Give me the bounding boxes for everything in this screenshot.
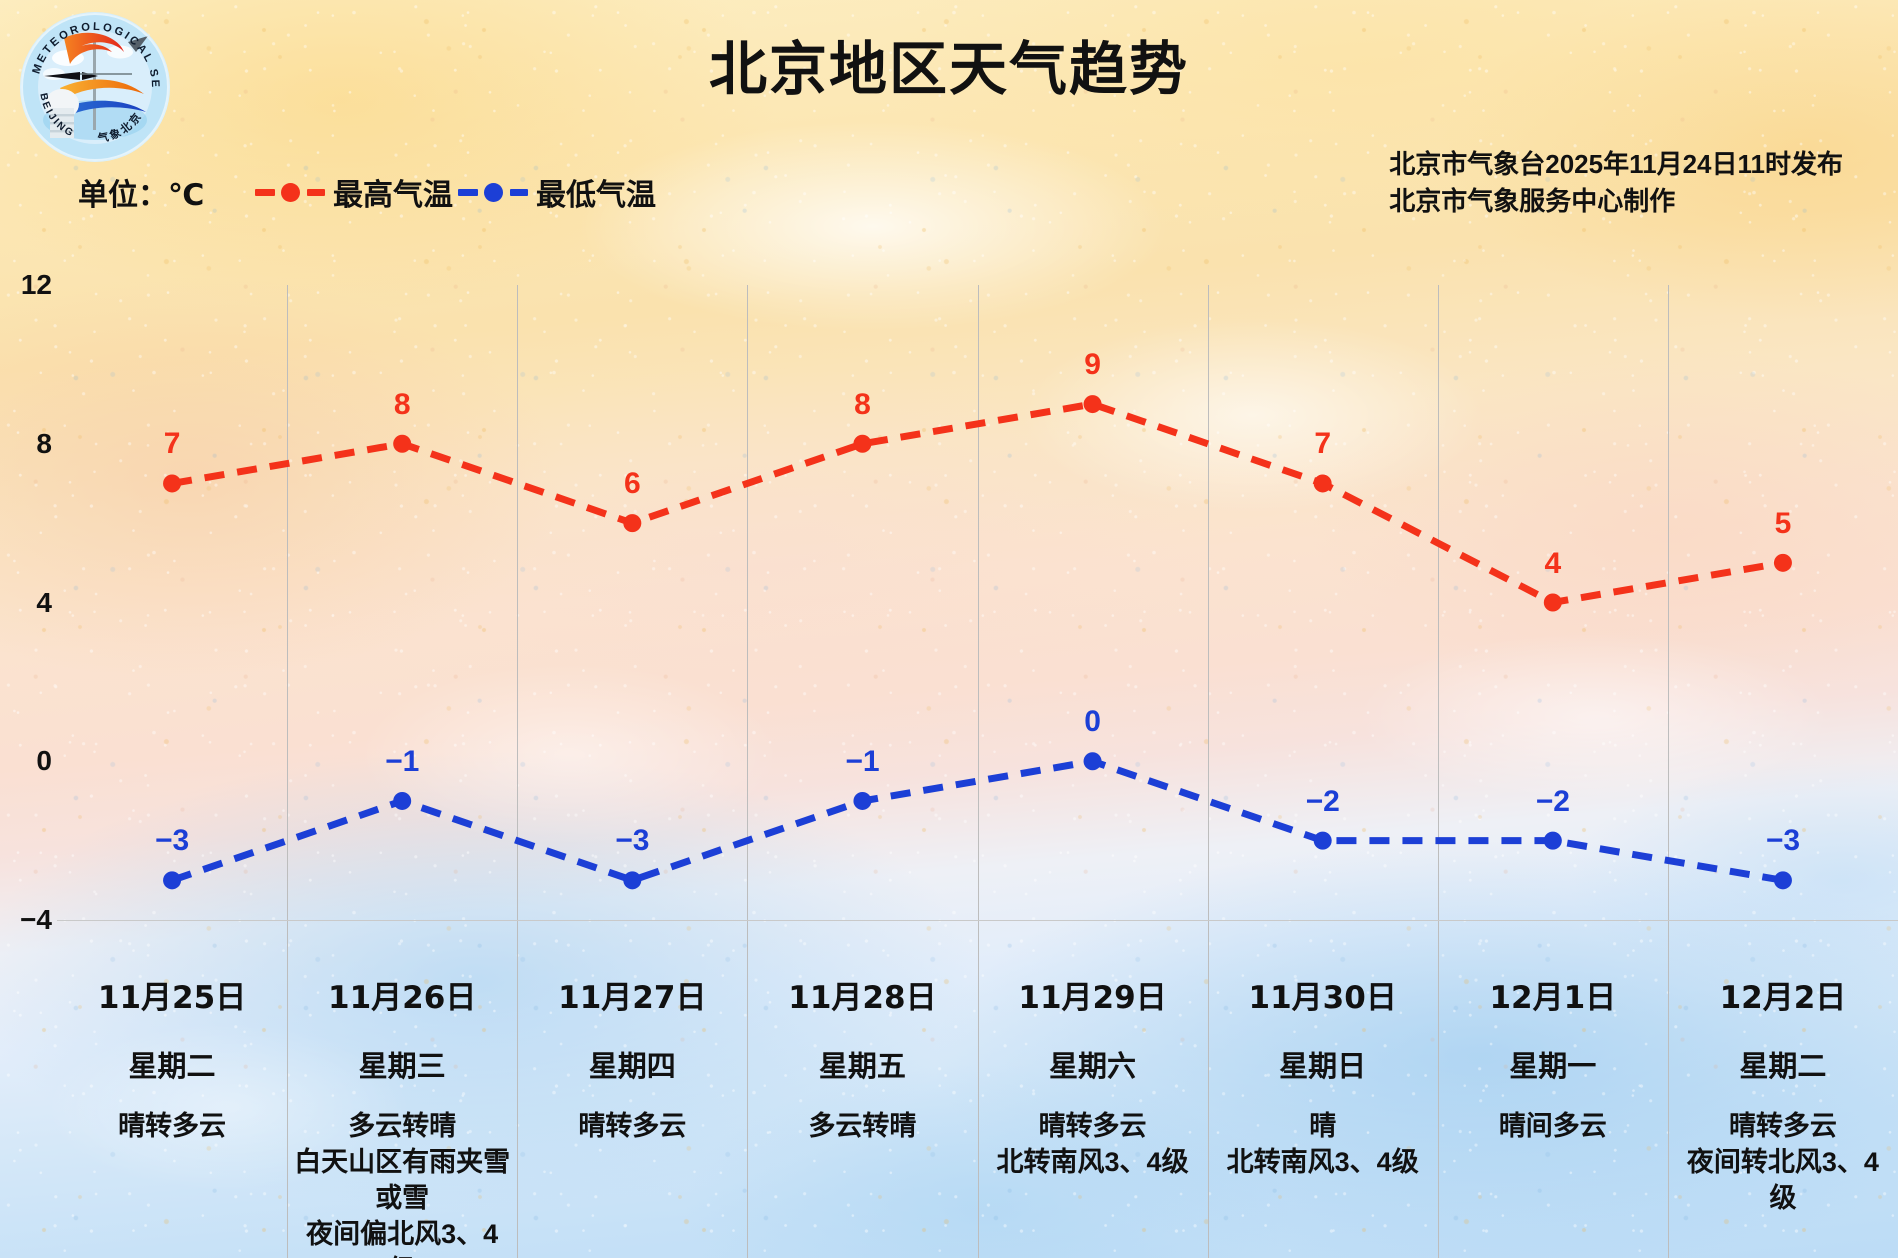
data-label-high-temp: 4: [1544, 547, 1561, 581]
day-column: 11月30日星期日晴北转南风3、4级: [1208, 930, 1438, 1258]
day-date-label: 11月26日: [293, 972, 511, 1017]
data-label-low-temp: −3: [1766, 824, 1800, 858]
data-label-low-temp: −3: [155, 824, 189, 858]
day-weekday-label: 星期三: [293, 1043, 511, 1085]
series-point-marker: [853, 435, 871, 453]
day-weekday-label: 星期一: [1444, 1043, 1662, 1085]
day-column: 11月28日星期五多云转晴: [747, 930, 977, 1258]
day-column: 12月2日星期二晴转多云夜间转北风3、4级: [1668, 930, 1898, 1258]
data-label-high-temp: 7: [164, 427, 181, 461]
data-label-high-temp: 6: [624, 467, 641, 501]
day-weather-description: 晴北转南风3、4级: [1214, 1109, 1432, 1181]
day-weekday-label: 星期二: [1674, 1043, 1892, 1085]
series-line-high: [172, 404, 1783, 602]
data-label-high-temp: 9: [1084, 348, 1101, 382]
series-point-marker: [163, 871, 181, 889]
day-weekday-label: 星期日: [1214, 1043, 1432, 1085]
day-weather-description: 多云转晴: [753, 1109, 971, 1145]
day-column: 12月1日星期一晴间多云: [1438, 930, 1668, 1258]
series-point-marker: [853, 792, 871, 810]
series-point-marker: [1774, 871, 1792, 889]
series-point-marker: [1314, 832, 1332, 850]
day-weather-description: 晴转多云: [63, 1109, 281, 1145]
series-point-marker: [1544, 832, 1562, 850]
day-weather-description: 晴转多云夜间转北风3、4级: [1674, 1109, 1892, 1217]
data-label-high-temp: 5: [1775, 507, 1792, 541]
day-date-label: 11月30日: [1214, 972, 1432, 1017]
series-point-marker: [1544, 594, 1562, 612]
day-weekday-label: 星期二: [63, 1043, 281, 1085]
series-point-marker: [393, 792, 411, 810]
day-weekday-label: 星期五: [753, 1043, 971, 1085]
series-point-marker: [1774, 554, 1792, 572]
data-label-low-temp: −2: [1536, 785, 1570, 819]
day-date-label: 11月28日: [753, 972, 971, 1017]
data-label-low-temp: −3: [615, 824, 649, 858]
day-weekday-label: 星期六: [984, 1043, 1202, 1085]
data-label-low-temp: −2: [1306, 785, 1340, 819]
day-column: 11月27日星期四晴转多云: [517, 930, 747, 1258]
series-point-marker: [623, 514, 641, 532]
series-point-marker: [1314, 474, 1332, 492]
day-date-label: 11月25日: [63, 972, 281, 1017]
series-point-marker: [163, 474, 181, 492]
series-point-marker: [1084, 752, 1102, 770]
data-label-high-temp: 8: [854, 388, 871, 422]
day-column: 11月25日星期二晴转多云: [57, 930, 287, 1258]
day-weather-description: 晴转多云北转南风3、4级: [984, 1109, 1202, 1181]
data-label-low-temp: −1: [845, 745, 879, 779]
series-point-marker: [623, 871, 641, 889]
day-weather-description: 多云转晴白天山区有雨夹雪或雪夜间偏北风3、4级: [293, 1109, 511, 1258]
day-columns: 11月25日星期二晴转多云11月26日星期三多云转晴白天山区有雨夹雪或雪夜间偏北…: [57, 930, 1898, 1258]
data-label-low-temp: 0: [1084, 705, 1101, 739]
day-weekday-label: 星期四: [523, 1043, 741, 1085]
day-date-label: 11月27日: [523, 972, 741, 1017]
day-date-label: 11月29日: [984, 972, 1202, 1017]
data-label-low-temp: −1: [385, 745, 419, 779]
series-point-marker: [1084, 395, 1102, 413]
day-date-label: 12月2日: [1674, 972, 1892, 1017]
day-date-label: 12月1日: [1444, 972, 1662, 1017]
series-point-marker: [393, 435, 411, 453]
series-line-low: [172, 761, 1783, 880]
day-column: 11月26日星期三多云转晴白天山区有雨夹雪或雪夜间偏北风3、4级: [287, 930, 517, 1258]
data-label-high-temp: 8: [394, 388, 411, 422]
data-label-high-temp: 7: [1314, 427, 1331, 461]
day-weather-description: 晴转多云: [523, 1109, 741, 1145]
day-weather-description: 晴间多云: [1444, 1109, 1662, 1145]
day-column: 11月29日星期六晴转多云北转南风3、4级: [978, 930, 1208, 1258]
